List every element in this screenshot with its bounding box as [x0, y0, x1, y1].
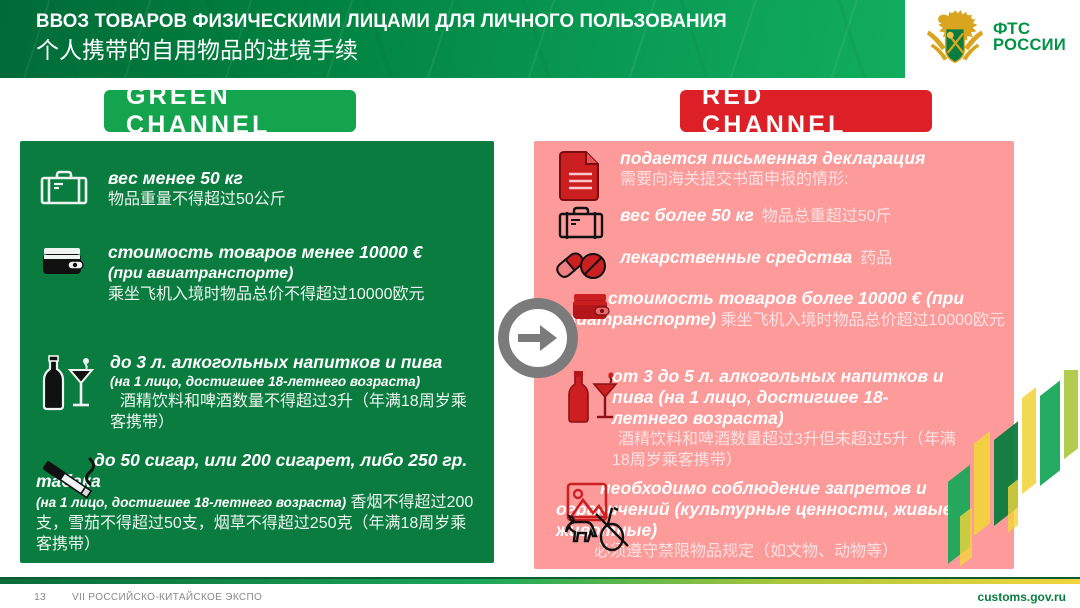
red-item-value: стоимость товаров более 10000 € (при ави…	[556, 288, 1011, 331]
cigarette-icon	[36, 454, 102, 510]
red-item-3-cn: 药品	[860, 248, 892, 269]
green-item-tobacco: до 50 сигар, или 200 сигарет, либо 250 г…	[36, 450, 481, 555]
fts-logo-line2: РОССИИ	[993, 37, 1066, 54]
green-item-1-cn: 物品重量不得超过50公斤	[108, 189, 286, 210]
page-title-ru: ВВОЗ ТОВАРОВ ФИЗИЧЕСКИМИ ЛИЦАМИ ДЛЯ ЛИЧН…	[36, 8, 727, 34]
green-item-value: стоимость товаров менее 10000 € (при ави…	[38, 242, 478, 305]
wallet-icon	[570, 290, 616, 326]
footer-website[interactable]: customs.gov.ru	[978, 590, 1066, 604]
fts-logo-text: ФТС РОССИИ	[993, 20, 1066, 54]
header-text-block: ВВОЗ ТОВАРОВ ФИЗИЧЕСКИМИ ЛИЦАМИ ДЛЯ ЛИЧН…	[36, 8, 756, 65]
slide-root: ВВОЗ ТОВАРОВ ФИЗИЧЕСКИМИ ЛИЦАМИ ДЛЯ ЛИЧН…	[0, 0, 1080, 608]
arrow-right-icon	[498, 298, 578, 378]
double-headed-eagle-icon	[925, 6, 985, 68]
bottle-cocktail-icon	[38, 352, 96, 414]
header-band: ВВОЗ ТОВАРОВ ФИЗИЧЕСКИМИ ЛИЦАМИ ДЛЯ ЛИЧН…	[0, 0, 905, 78]
wallet-icon	[38, 242, 90, 282]
green-item-3-cn: 酒精饮料和啤酒数量不得超过3升（年满18周岁乘客携带）	[110, 391, 478, 433]
green-item-3-ru-sub: (на 1 лицо, достигшее 18-летнего возраст…	[110, 373, 478, 391]
green-item-3-ru: до 3 л. алкогольных напитков и пива	[110, 352, 478, 373]
red-item-5-cn: 酒精饮料和啤酒数量超过3升但未超过5升（年满18周岁乘客携带）	[612, 429, 956, 471]
red-item-4-cn: 乘坐飞机入境时物品总价超过10000欧元	[720, 312, 1005, 329]
suitcase-icon	[556, 205, 606, 243]
red-item-2-cn: 物品总重超过50斤	[762, 206, 892, 227]
red-channel-badge[interactable]: RED CHANNEL	[680, 90, 932, 132]
bottle-cocktail-icon	[564, 368, 620, 426]
footer-rule	[0, 579, 1080, 584]
red-item-1-ru: подается письменная декларация	[620, 148, 925, 169]
green-item-1-ru: вес менее 50 кг	[108, 168, 286, 189]
red-item-medicine: лекарственные средства 药品	[556, 247, 1006, 283]
fts-logo-line1: ФТС	[993, 20, 1066, 37]
red-item-declaration: подается письменная декларация 需要向海关提交书面…	[556, 148, 1006, 204]
page-title-cn: 个人携带的自用物品的进境手续	[36, 35, 756, 65]
artwork-animal-violin-icon	[562, 480, 634, 554]
red-item-1-cn: 需要向海关提交书面申报的情形:	[620, 169, 925, 190]
pills-icon	[556, 247, 606, 283]
page-number: 13	[34, 591, 46, 603]
footer-event-label: VII РОССИЙСКО-КИТАЙСКОЕ ЭКСПО	[72, 592, 262, 603]
green-item-4-ru: до 50 сигар, или 200 сигарет, либо 250 г…	[36, 450, 481, 492]
green-item-2-ru-sub: (при авиатранспорте)	[108, 263, 425, 284]
red-item-5-ru: от 3 до 5 л. алкогольных напитков и пива…	[612, 366, 956, 429]
green-channel-badge[interactable]: GREEN CHANNEL	[104, 90, 356, 132]
green-item-2-ru: стоимость товаров менее 10000 €	[108, 242, 425, 263]
green-item-2-cn: 乘坐飞机入境时物品总价不得超过10000欧元	[108, 284, 425, 305]
document-icon	[556, 148, 606, 204]
green-item-alcohol: до 3 л. алкогольных напитков и пива (на …	[38, 352, 478, 433]
fts-logo: ФТС РОССИИ	[925, 6, 1066, 68]
red-item-alcohol: от 3 до 5 л. алкогольных напитков и пива…	[556, 366, 1014, 471]
red-item-2-ru: вес более 50 кг	[620, 205, 754, 226]
red-item-weight: вес более 50 кг 物品总重超过50斤	[556, 205, 1006, 243]
green-item-weight: вес менее 50 кг 物品重量不得超过50公斤	[38, 168, 468, 210]
red-item-3-ru: лекарственные средства	[620, 247, 852, 268]
suitcase-icon	[38, 168, 90, 210]
red-item-restrictions: необходимо соблюдение запретов и огранич…	[556, 478, 1014, 562]
